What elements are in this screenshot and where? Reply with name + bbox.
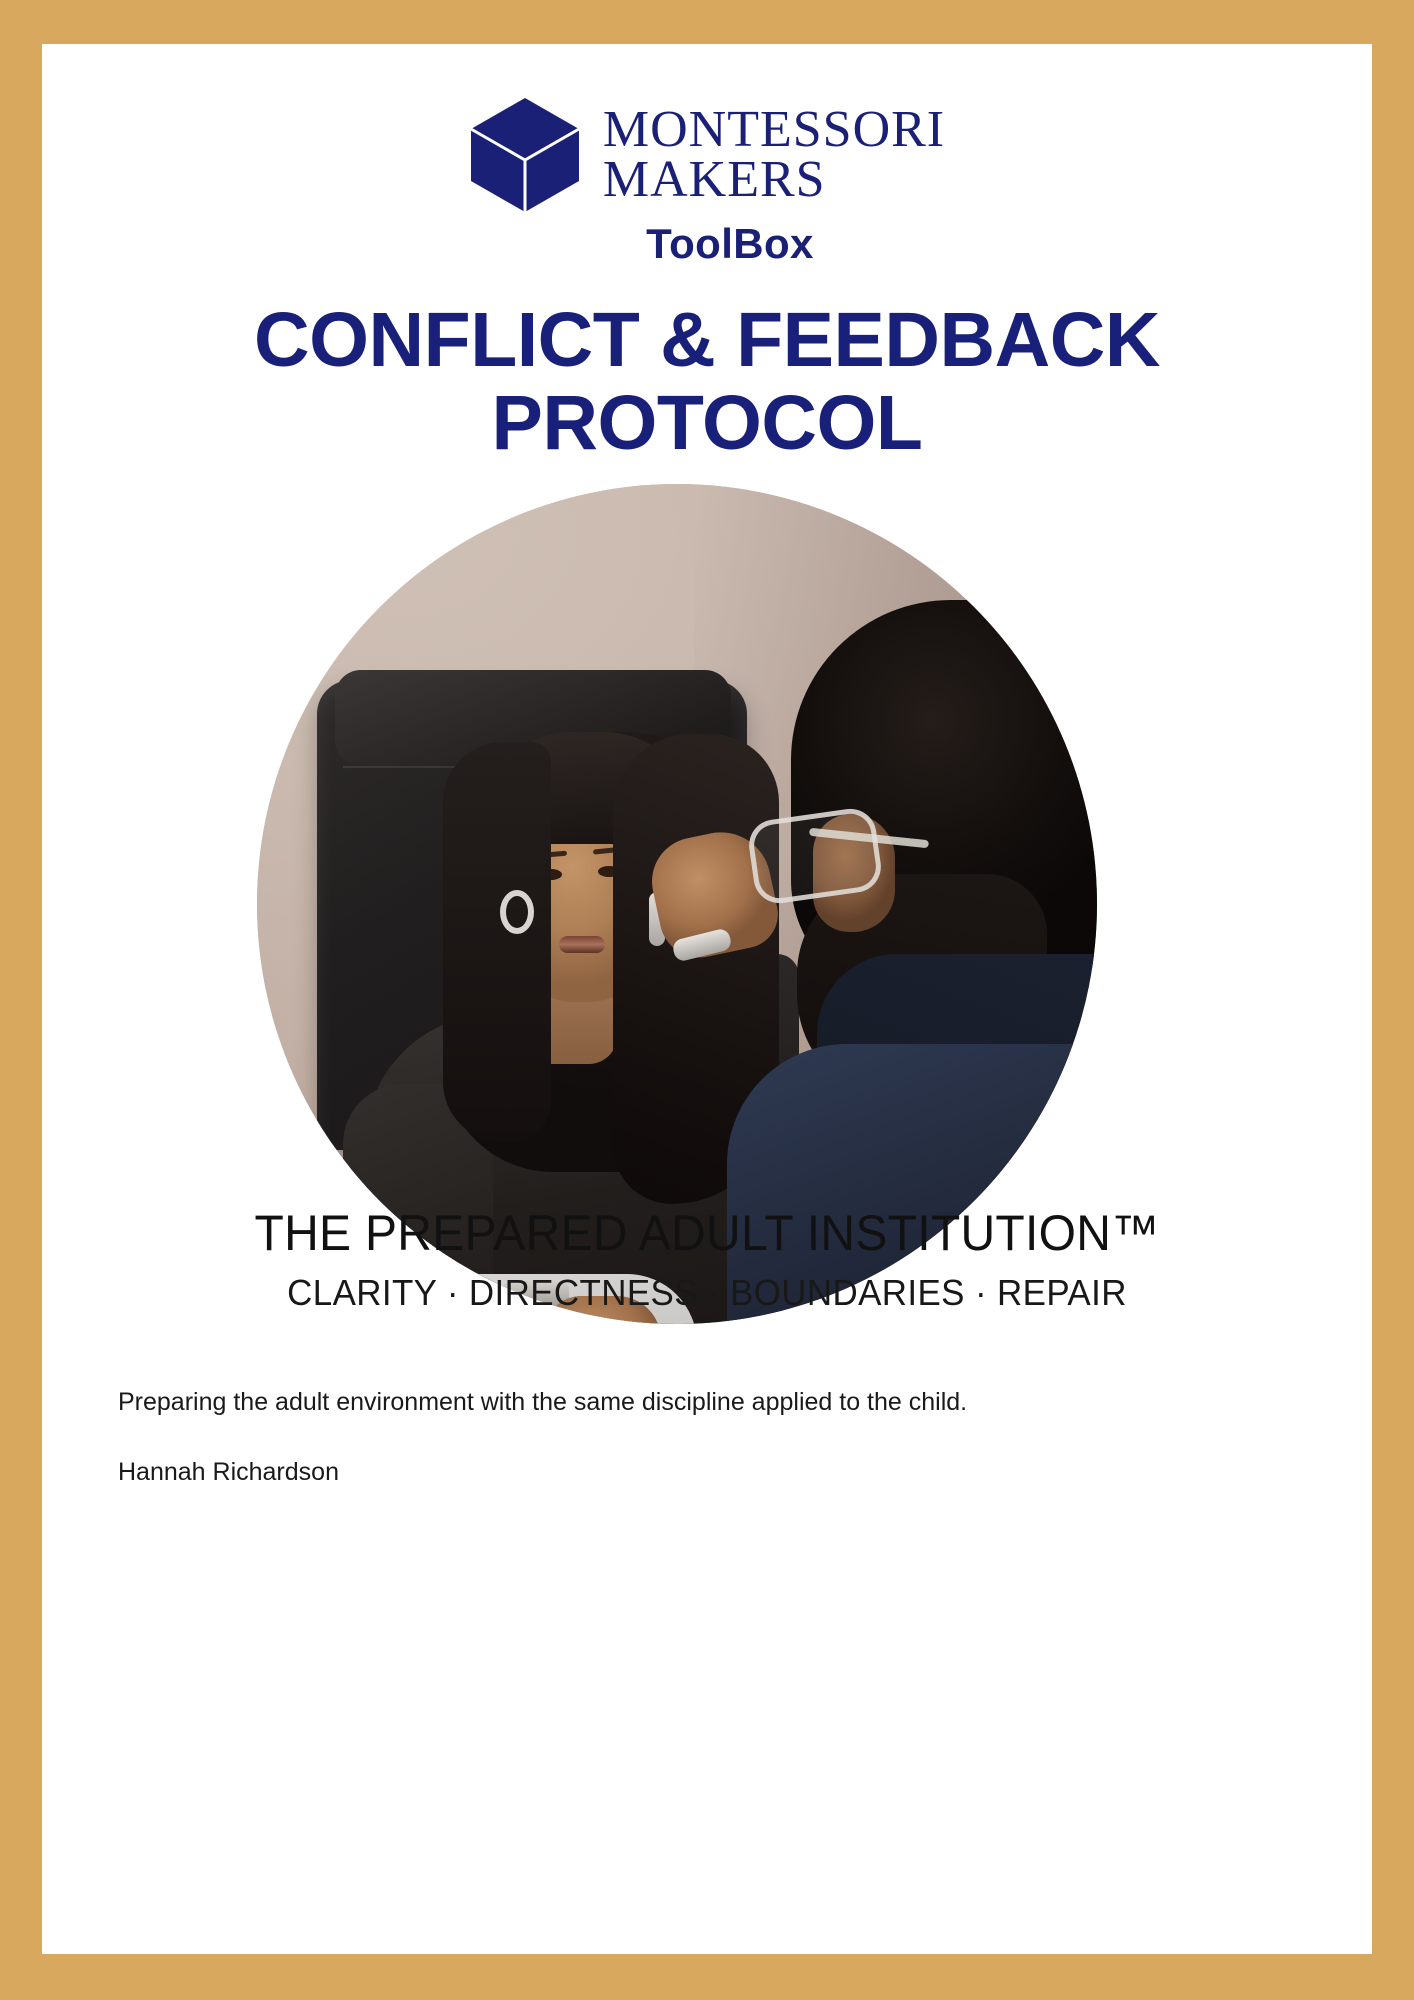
woman-mouth — [559, 936, 605, 953]
isometric-cube-icon — [469, 96, 581, 214]
logo-product-name: ToolBox — [600, 220, 814, 268]
cover-description: Preparing the adult environment with the… — [118, 1384, 1296, 1422]
institution-subtitle: THE PREPARED ADULT INSTITUTION™ — [115, 1204, 1300, 1262]
cover-page: MONTESSORI MAKERS ToolBox CONFLICT & FEE… — [42, 44, 1372, 1954]
cover-author: Hannah Richardson — [118, 1458, 1296, 1487]
woman-hair-left — [443, 742, 551, 1142]
page-title: CONFLICT & FEEDBACK PROTOCOL — [90, 299, 1324, 465]
woman-hoop-earring — [500, 890, 534, 934]
logo-line-1: MONTESSORI — [603, 105, 945, 155]
logo-line-2: MAKERS — [603, 155, 945, 205]
cover-footer: Preparing the adult environment with the… — [118, 1384, 1296, 1487]
values-tagline: CLARITY · DIRECTNESS · BOUNDARIES · REPA… — [109, 1272, 1306, 1314]
brand-logo: MONTESSORI MAKERS ToolBox — [42, 96, 1372, 268]
cover-photo — [257, 484, 1097, 1324]
